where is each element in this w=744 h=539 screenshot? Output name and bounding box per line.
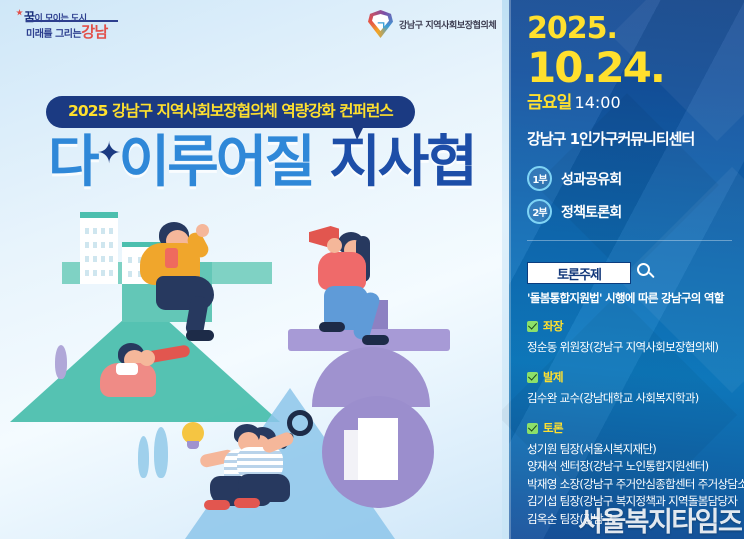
section-chair: 좌장 정순동 위원장(강남구 지역사회보장협의체) xyxy=(527,318,718,356)
program-part-2: 2부 정책토론회 xyxy=(527,199,621,224)
gangnam-city-logo: 꿈이 모이는 도시 미래를 그리는강남 xyxy=(14,8,134,40)
title-part-2: 이루어질 xyxy=(119,130,313,195)
section-line: 성기원 팀장(서울시복지재단) xyxy=(527,441,744,458)
panel-divider xyxy=(527,240,732,241)
star-icon xyxy=(16,9,23,16)
conference-subtitle-bubble: 2025 강남구 지역사회보장협의체 역량강화 컨퍼런스 xyxy=(46,96,415,128)
event-year: 2025. xyxy=(527,14,617,44)
council-logo: ㄱ 강남구 지역사회보장협의체 xyxy=(368,10,496,38)
part-label: 정책토론회 xyxy=(561,202,621,222)
section-line: 정순동 위원장(강남구 지역사회보장협의체) xyxy=(527,339,718,356)
event-weekday: 금요일 xyxy=(527,93,572,113)
discussion-topic-badge: 토론주제 xyxy=(527,262,631,284)
gangnam-logo-line2: 미래를 그리는강남 xyxy=(26,21,108,42)
tree-icon xyxy=(55,345,67,379)
event-date: 10.24. xyxy=(527,47,664,89)
section-line: 박재영 소장(강남구 주거안심종합센터 주거상담소) xyxy=(527,476,744,493)
magnifier-icon xyxy=(637,263,656,282)
section-line: 김수완 교수(강남대학교 사회복지학과) xyxy=(527,390,699,407)
tree-icon xyxy=(154,427,168,478)
check-icon xyxy=(527,321,538,332)
page-title: 다✦이루어질 지사협 xyxy=(48,135,475,191)
section-line: 양재석 센터장(강남구 노인통합지원센터) xyxy=(527,458,744,475)
title-part-1: 다 xyxy=(48,130,97,195)
section-presenter: 발제 김수완 교수(강남대학교 사회복지학과) xyxy=(527,369,699,407)
conference-poster: 꿈이 모이는 도시 미래를 그리는강남 ㄱ 강남구 지역사회보장협의체 2025… xyxy=(0,0,744,539)
event-time: 14:00 xyxy=(575,93,621,112)
discussion-topic-label: 토론주제 xyxy=(557,264,601,283)
white-building-icon xyxy=(358,418,398,480)
panel-left-edge-2 xyxy=(509,0,511,539)
program-part-1: 1부 성과공유회 xyxy=(527,166,621,191)
star-icon: ✦ xyxy=(97,136,119,171)
discussion-topic-text: '돌봄통합지원법' 시행에 따른 강남구의 역할 xyxy=(527,290,724,306)
section-title: 토론 xyxy=(543,420,563,436)
event-weekday-time: 금요일14:00 xyxy=(527,95,621,112)
check-icon xyxy=(527,372,538,383)
location-pin-icon: ㄱ xyxy=(368,10,393,38)
tree-icon xyxy=(138,436,149,478)
part-badge: 1부 xyxy=(527,166,552,191)
part-badge: 2부 xyxy=(527,199,552,224)
event-venue: 강남구 1인가구커뮤니티센터 xyxy=(527,128,694,149)
watermark: 서울복지타임즈 xyxy=(578,500,741,539)
title-part-3: 지사협 xyxy=(329,130,475,195)
panel-left-edge xyxy=(502,0,509,539)
council-logo-text: 강남구 지역사회보장협의체 xyxy=(399,18,496,31)
part-label: 성과공유회 xyxy=(561,169,621,189)
info-panel: 2025. 10.24. 금요일14:00 강남구 1인가구커뮤니티센터 1부 … xyxy=(502,0,744,539)
building-tall-icon xyxy=(80,212,118,284)
section-title: 좌장 xyxy=(543,318,563,334)
section-title: 발제 xyxy=(543,369,563,385)
check-icon xyxy=(527,423,538,434)
